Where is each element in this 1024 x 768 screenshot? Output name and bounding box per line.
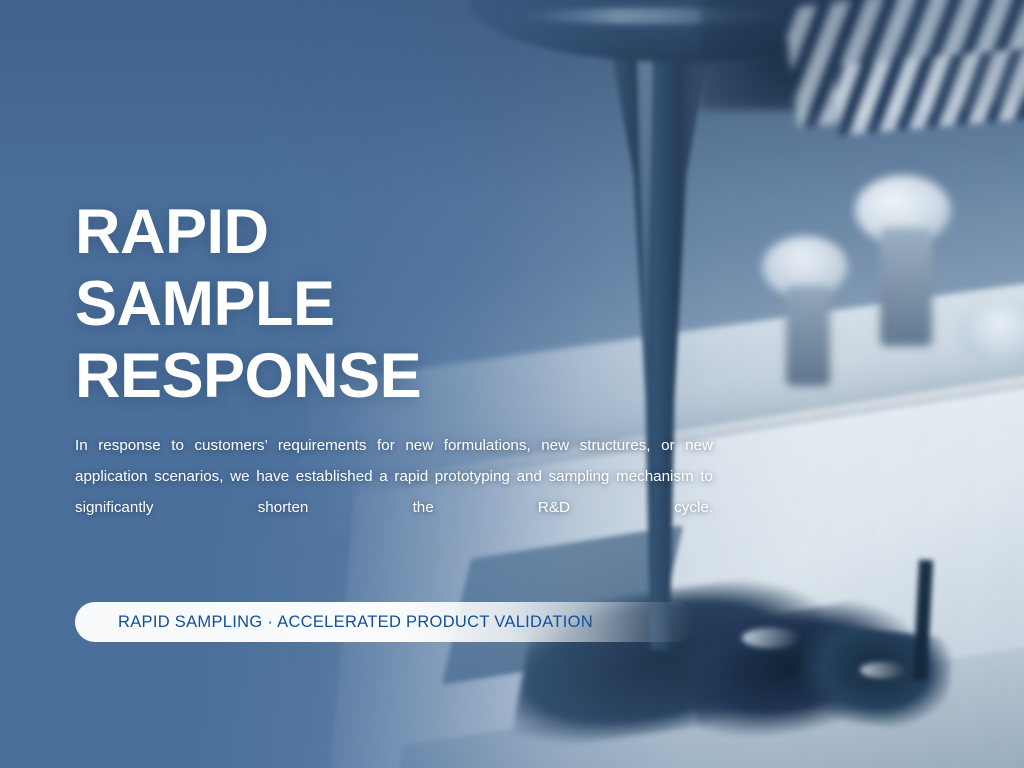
hero-content: RAPID SAMPLE RESPONSE In response to cus… — [75, 0, 775, 768]
status-badge-label: RAPID SAMPLING · ACCELERATED PRODUCT VAL… — [118, 613, 593, 632]
page-title: RAPID SAMPLE RESPONSE — [75, 196, 421, 412]
hero-description: In response to customers’ requirements f… — [75, 430, 713, 554]
hero-banner: RAPID SAMPLE RESPONSE In response to cus… — [0, 0, 1024, 768]
status-badge: RAPID SAMPLING · ACCELERATED PRODUCT VAL… — [75, 602, 695, 642]
headline-line-3: RESPONSE — [75, 340, 421, 412]
headline-line-2: SAMPLE — [75, 268, 421, 340]
headline-line-1: RAPID — [75, 196, 421, 268]
